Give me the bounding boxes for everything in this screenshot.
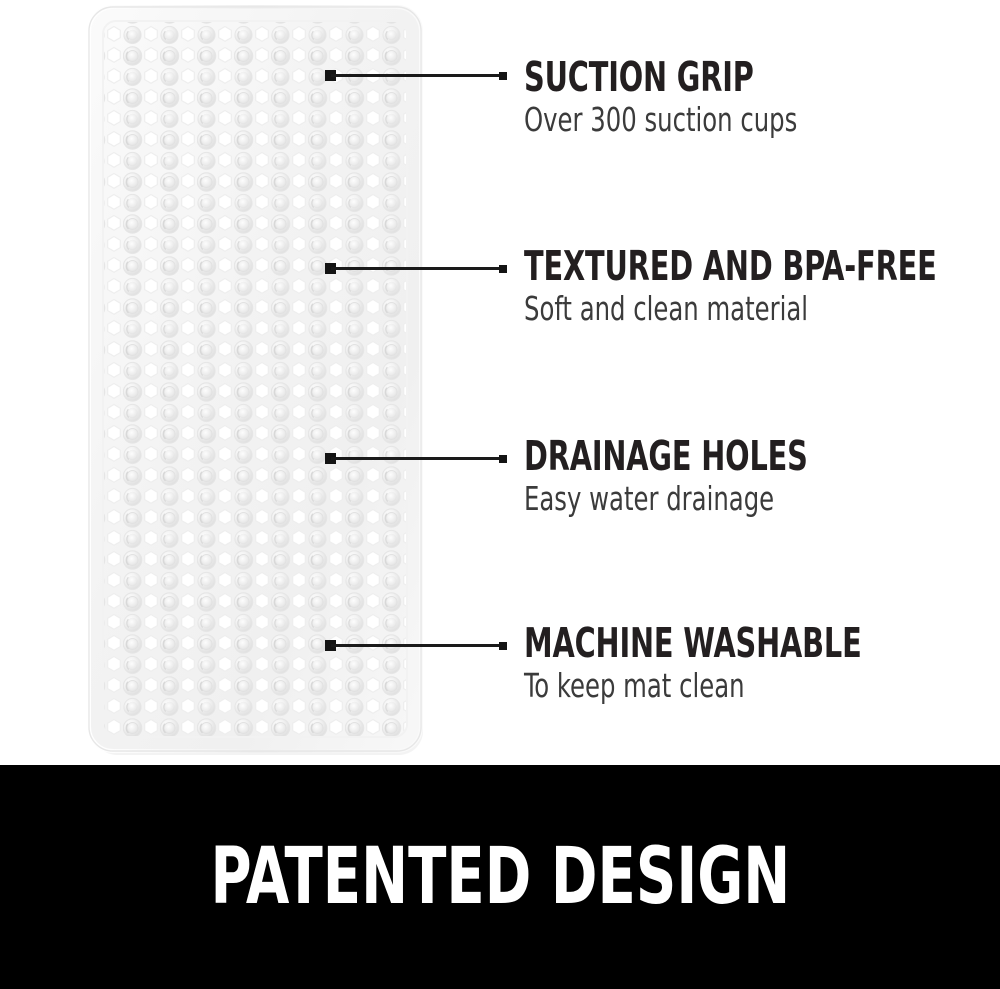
callout-suction-grip: SUCTION GRIP Over 300 suction cups bbox=[524, 56, 857, 138]
leader-anchor-dot-right bbox=[499, 455, 507, 463]
callout-drainage-holes: DRAINAGE HOLES Easy water drainage bbox=[524, 435, 888, 517]
leader-line-bar bbox=[331, 267, 502, 270]
callout-textured-and-bpa-free: TEXTURED AND BPA-FREE Soft and clean mat… bbox=[524, 245, 1000, 327]
callout-subtitle: To keep mat clean bbox=[524, 668, 879, 704]
product-infographic: SUCTION GRIP Over 300 suction cups TEXTU… bbox=[0, 0, 1000, 989]
product-image-area: SUCTION GRIP Over 300 suction cups TEXTU… bbox=[0, 0, 1000, 765]
banner-heading: PATENTED DESIGN bbox=[0, 835, 1000, 919]
leader-line-bar bbox=[331, 644, 502, 647]
leader-line-2 bbox=[325, 257, 507, 279]
callout-title: TEXTURED AND BPA-FREE bbox=[524, 245, 937, 287]
callout-title: DRAINAGE HOLES bbox=[524, 435, 808, 477]
leader-line-4 bbox=[325, 634, 507, 656]
leader-anchor-dot-right bbox=[499, 72, 507, 80]
callout-subtitle: Over 300 suction cups bbox=[524, 102, 797, 138]
leader-anchor-dot-right bbox=[499, 642, 507, 650]
leader-line-3 bbox=[325, 447, 507, 469]
callout-subtitle: Soft and clean material bbox=[524, 291, 958, 327]
leader-line-bar bbox=[331, 457, 502, 460]
leader-line-bar bbox=[331, 74, 502, 77]
callout-title: SUCTION GRIP bbox=[524, 56, 784, 98]
leader-line-1 bbox=[325, 64, 507, 86]
callout-subtitle: Easy water drainage bbox=[524, 481, 822, 517]
bottom-banner: PATENTED DESIGN bbox=[0, 765, 1000, 989]
leader-anchor-dot-right bbox=[499, 265, 507, 273]
banner-heading-text: PATENTED DESIGN bbox=[210, 835, 790, 919]
callout-title: MACHINE WASHABLE bbox=[524, 622, 862, 664]
callout-machine-washable: MACHINE WASHABLE To keep mat clean bbox=[524, 622, 957, 704]
